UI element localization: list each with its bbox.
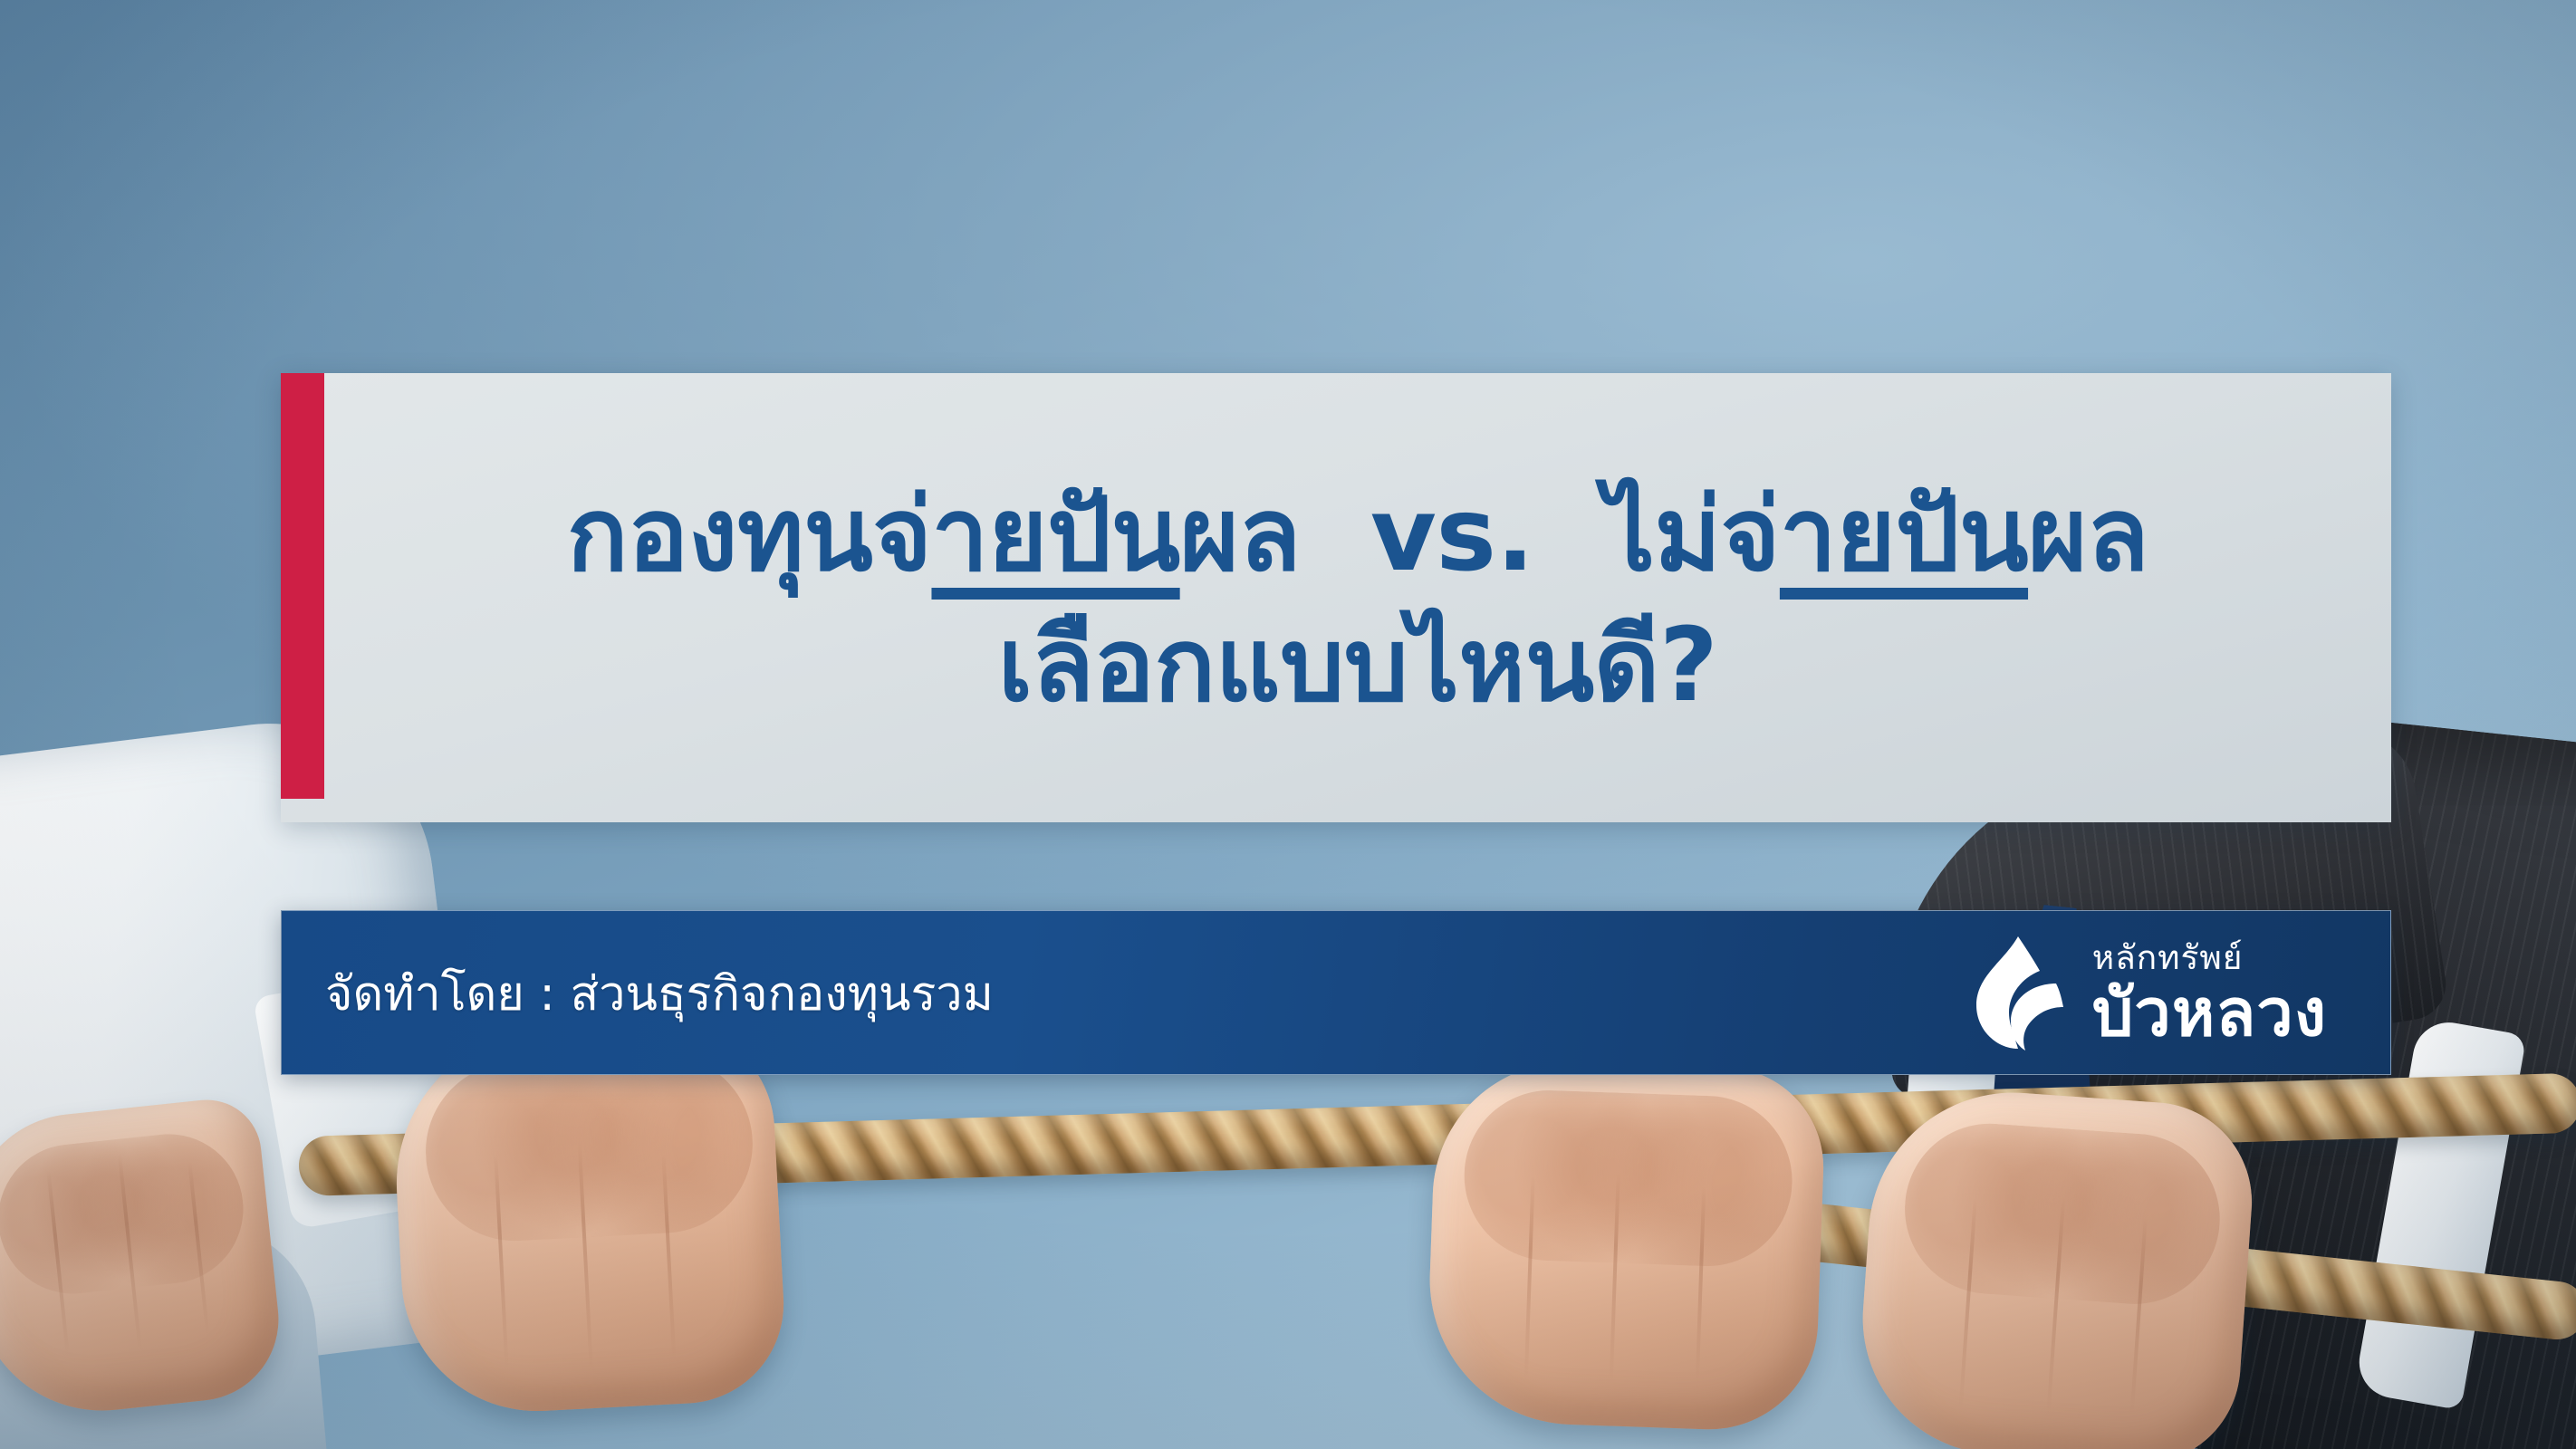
brand-logo: หลักทรัพย์ บัวหลวง [1962, 935, 2327, 1051]
title-text-block: กองทุนจ่ายปันผล vs. ไม่จ่ายปันผล เลือกแบ… [324, 373, 2391, 822]
title-line-2: เลือกแบบไหนดี? [998, 613, 1718, 720]
footer-credit-text: จัดทำโดย : ส่วนธุรกิจกองทุนรวม [325, 955, 994, 1031]
title-part-3: ไม่จ่ [1604, 476, 1780, 594]
title-part-4: ผล [2028, 476, 2148, 594]
brand-logo-text: หลักทรัพย์ บัวหลวง [2092, 941, 2327, 1045]
slide-canvas: กองทุนจ่ายปันผล vs. ไม่จ่ายปันผล เลือกแบ… [0, 0, 2576, 1449]
title-part-1: กองทุนจ่ [567, 476, 932, 594]
title-underlined-1: ายปัน [931, 476, 1179, 594]
title-card: กองทุนจ่ายปันผล vs. ไม่จ่ายปันผล เลือกแบ… [281, 373, 2391, 822]
title-line-1: กองทุนจ่ายปันผล vs. ไม่จ่ายปันผล [567, 483, 2149, 590]
title-accent-bar [281, 373, 324, 799]
footer-bar: จัดทำโดย : ส่วนธุรกิจกองทุนรวม หลักทรัพย… [281, 910, 2391, 1075]
title-underlined-2: ายปัน [1780, 476, 2028, 594]
brand-logo-subtitle: หลักทรัพย์ [2092, 941, 2327, 974]
lotus-flame-icon [1962, 935, 2069, 1051]
title-part-2: ผล [1180, 476, 1301, 594]
brand-logo-name: บัวหลวง [2092, 980, 2327, 1045]
title-vs-label: vs. [1370, 476, 1534, 594]
